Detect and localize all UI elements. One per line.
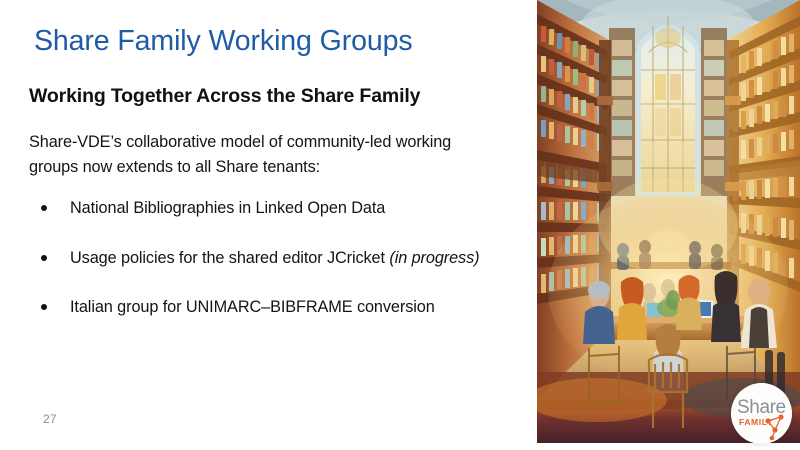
page-number: 27 [43,412,57,426]
share-family-logo: Share FAMILY [731,383,792,444]
slide: Share Family Working Groups Working Toge… [0,0,800,450]
library-illustration [537,0,800,443]
slide-subtitle: Working Together Across the Share Family [29,84,519,108]
list-item: National Bibliographies in Linked Open D… [29,196,499,221]
bullet-dot-icon [41,255,47,261]
list-item-text: National Bibliographies in Linked Open D… [70,199,385,217]
list-item: Usage policies for the shared editor JCr… [29,246,499,271]
bullet-dot-icon [41,304,47,310]
page-title: Share Family Working Groups [34,24,514,58]
list-item-text: Italian group for UNIMARC–BIBFRAME conve… [70,298,435,316]
library-illustration-artwork [537,0,800,443]
slide-text-column: Share Family Working Groups Working Toge… [0,0,537,450]
list-item-emphasis: (in progress) [389,249,479,267]
list-item-text: Usage policies for the shared editor JCr… [70,249,389,267]
bullet-list: National Bibliographies in Linked Open D… [29,196,499,320]
bullet-dot-icon [41,205,47,211]
svg-text:Share: Share [737,397,786,418]
list-item: Italian group for UNIMARC–BIBFRAME conve… [29,295,499,320]
share-family-logo-artwork: Share FAMILY [731,383,792,444]
slide-body-paragraph: Share-VDE’s collaborative model of commu… [29,130,484,179]
